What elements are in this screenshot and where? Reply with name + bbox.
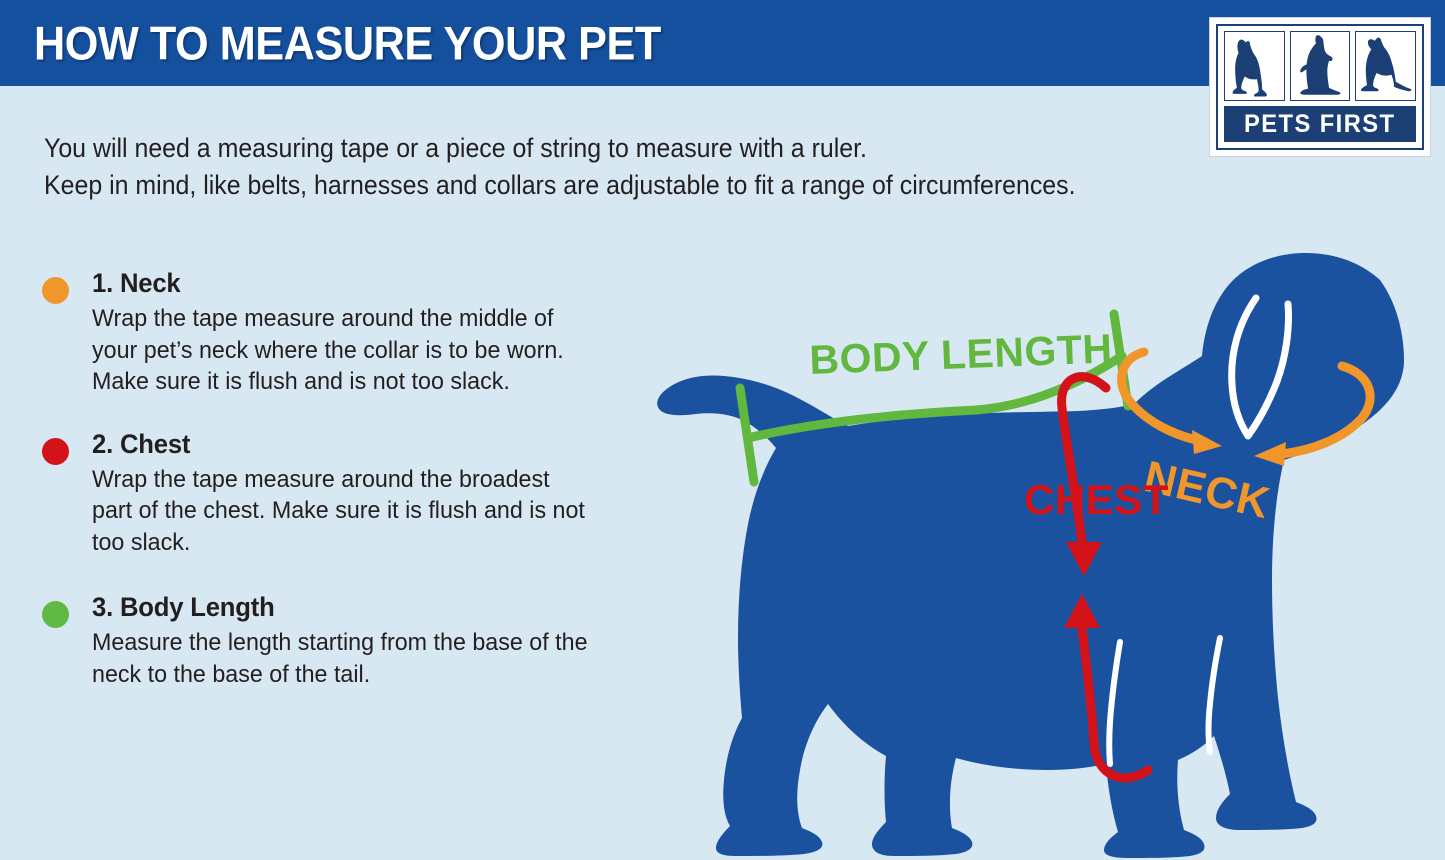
- logo-name-band: PETS FIRST: [1224, 106, 1416, 142]
- dog-measurement-diagram: BODY LENGTH NECK CHEST: [636, 246, 1436, 860]
- step-chest-body-line-3: too slack.: [92, 527, 634, 559]
- logo-brand-name: PETS FIRST: [1244, 110, 1395, 139]
- dog-standing-silhouette-icon: [1355, 31, 1416, 101]
- bullet-chest-icon: [42, 438, 69, 465]
- step-chest-body: Wrap the tape measure around the broades…: [92, 464, 634, 559]
- logo-dog-frames: [1224, 31, 1416, 101]
- step-chest-body-line-2: part of the chest. Make sure it is flush…: [92, 495, 634, 527]
- step-neck-body-line-3: Make sure it is flush and is not too sla…: [92, 366, 634, 398]
- step-body-length-body-line-2: neck to the base of the tail.: [92, 659, 634, 691]
- step-chest-body-line-1: Wrap the tape measure around the broades…: [92, 464, 634, 496]
- step-body-length-body: Measure the length starting from the bas…: [92, 627, 634, 690]
- body-length-label: BODY LENGTH: [809, 325, 1114, 383]
- bullet-body-length-icon: [42, 601, 69, 628]
- bullet-neck-icon: [42, 277, 69, 304]
- intro-paragraph: You will need a measuring tape or a piec…: [44, 130, 1204, 204]
- step-chest-heading: 2. Chest: [92, 429, 634, 460]
- step-neck: 1. Neck Wrap the tape measure around the…: [42, 268, 662, 398]
- measurement-steps-list: 1. Neck Wrap the tape measure around the…: [42, 268, 662, 721]
- dog-howling-silhouette-icon: [1290, 31, 1351, 101]
- step-body-length-body-line-1: Measure the length starting from the bas…: [92, 627, 634, 659]
- step-body-length: 3. Body Length Measure the length starti…: [42, 592, 662, 690]
- step-chest: 2. Chest Wrap the tape measure around th…: [42, 429, 662, 559]
- dog-sitting-silhouette-icon: [1224, 31, 1285, 101]
- step-body-length-heading: 3. Body Length: [92, 592, 634, 623]
- infographic-page: HOW TO MEASURE YOUR PET: [0, 0, 1445, 860]
- chest-label: CHEST: [1024, 476, 1169, 523]
- step-neck-heading: 1. Neck: [92, 268, 634, 299]
- brand-logo: PETS FIRST: [1209, 17, 1431, 157]
- intro-line-1: You will need a measuring tape or a piec…: [44, 130, 1134, 167]
- page-title: HOW TO MEASURE YOUR PET: [34, 16, 661, 71]
- intro-line-2: Keep in mind, like belts, harnesses and …: [44, 167, 1134, 204]
- step-neck-body-line-1: Wrap the tape measure around the middle …: [92, 303, 634, 335]
- step-neck-body-line-2: your pet’s neck where the collar is to b…: [92, 335, 634, 367]
- logo-inner-frame: PETS FIRST: [1216, 24, 1424, 150]
- step-neck-body: Wrap the tape measure around the middle …: [92, 303, 634, 398]
